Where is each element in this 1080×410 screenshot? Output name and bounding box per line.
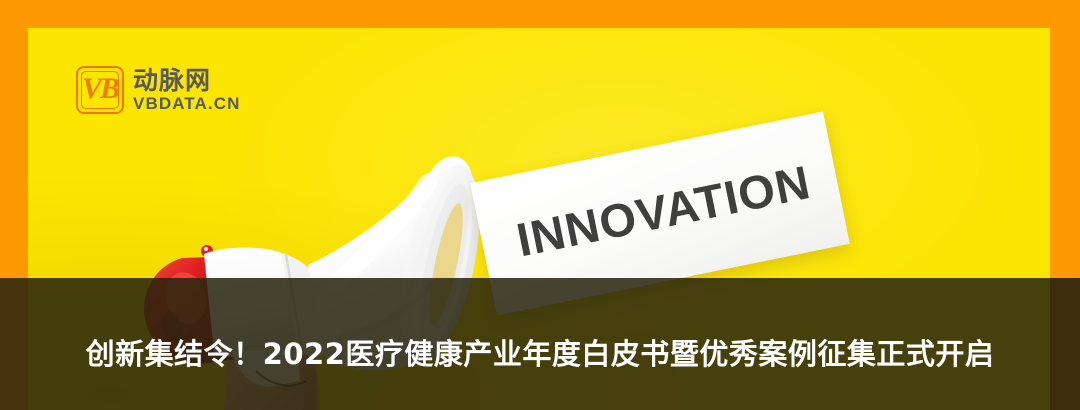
title-overlay-bar: 创新集结令！2022医疗健康产业年度白皮书暨优秀案例征集正式开启 bbox=[0, 278, 1080, 410]
brand-wordmark: 动脉网 VBDATA.CN bbox=[133, 68, 240, 113]
vb-badge-label: VB bbox=[82, 74, 118, 104]
vb-badge-icon: VB bbox=[76, 66, 124, 114]
banner-title: 创新集结令！2022医疗健康产业年度白皮书暨优秀案例征集正式开启 bbox=[86, 340, 995, 369]
brand-name-cn: 动脉网 bbox=[133, 68, 240, 94]
brand-name-latin: VBDATA.CN bbox=[133, 95, 240, 113]
overlay-right-tint bbox=[1050, 278, 1080, 410]
promo-banner: INNOVATION VB 动脉网 VBDATA.CN 创新集结令！2022医疗… bbox=[0, 0, 1080, 410]
brand-logo[interactable]: VB 动脉网 VBDATA.CN bbox=[76, 66, 240, 114]
paper-label: INNOVATION bbox=[512, 154, 815, 267]
